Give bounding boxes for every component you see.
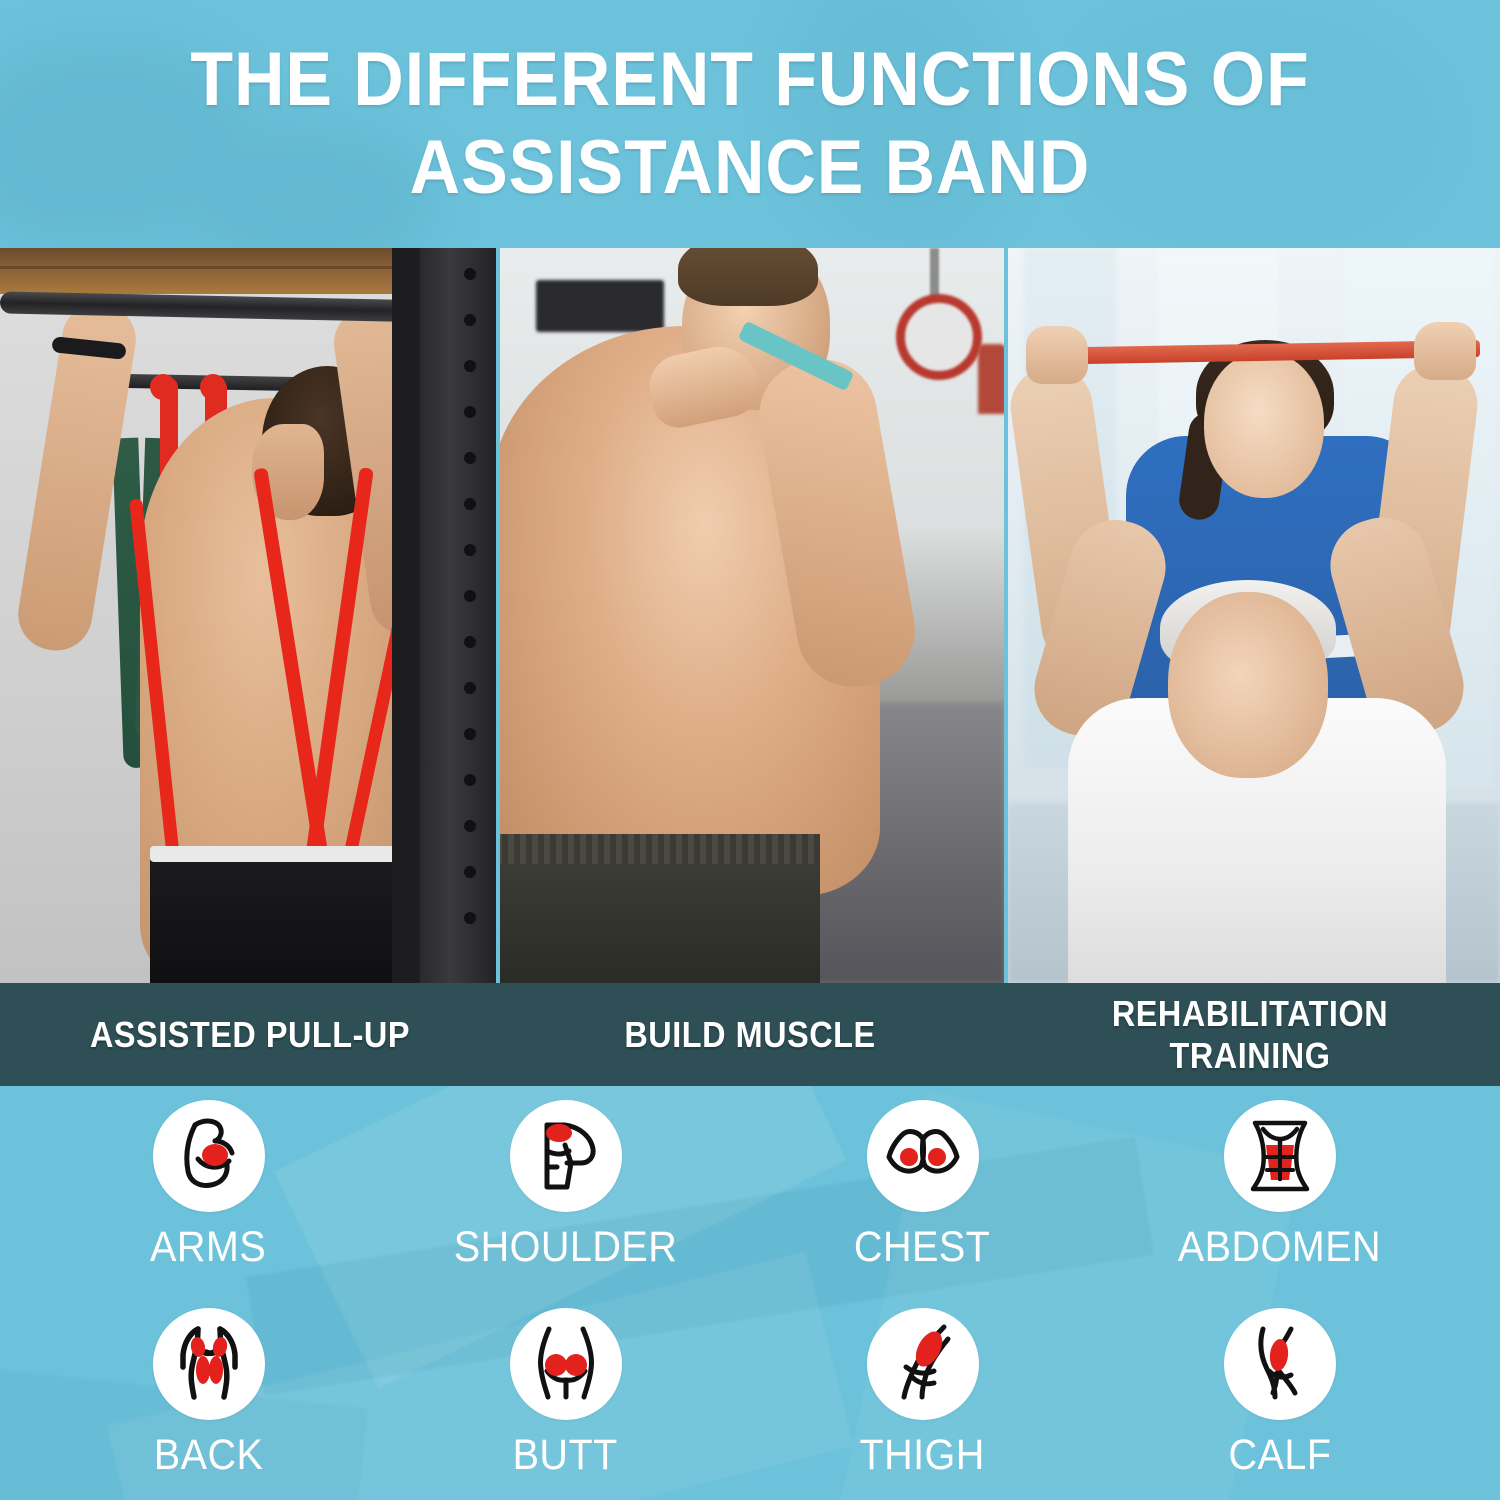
muscle-group-arms[interactable]: ARMS <box>30 1100 387 1307</box>
glutes-icon <box>510 1308 622 1420</box>
page-title: THE DIFFERENT FUNCTIONS OF ASSISTANCE BA… <box>60 36 1440 212</box>
muscle-group-calf[interactable]: CALF <box>1101 1308 1458 1500</box>
caption-rehabilitation-line-2: TRAINING <box>1170 1035 1331 1076</box>
muscle-group-abdomen[interactable]: ABDOMEN <box>1101 1100 1458 1307</box>
caption-build-muscle: BUILD MUSCLE <box>525 1014 975 1056</box>
six-pack-abs-icon <box>1224 1100 1336 1212</box>
muscle-group-label: ARMS <box>150 1222 266 1272</box>
muscle-group-butt[interactable]: BUTT <box>387 1308 744 1500</box>
rack-holes <box>464 268 476 968</box>
muscle-group-shoulder[interactable]: SHOULDER <box>387 1100 744 1307</box>
photo-rehabilitation-training <box>1008 248 1500 983</box>
caption-rehabilitation-training: REHABILITATION TRAINING <box>1025 993 1475 1077</box>
photo-assisted-pull-up <box>0 248 496 983</box>
header-banner: THE DIFFERENT FUNCTIONS OF ASSISTANCE BA… <box>0 0 1500 248</box>
muscle-group-label: CHEST <box>854 1222 990 1272</box>
caption-strip: ASSISTED PULL-UP BUILD MUSCLE REHABILITA… <box>0 983 1500 1086</box>
flexed-bicep-icon <box>153 1100 265 1212</box>
shoulder-deltoid-icon <box>510 1100 622 1212</box>
muscle-groups-section: ARMS SHOUL <box>0 1086 1500 1500</box>
infographic-poster: THE DIFFERENT FUNCTIONS OF ASSISTANCE BA… <box>0 0 1500 1500</box>
muscle-group-label: SHOULDER <box>454 1222 678 1272</box>
page-title-line-1: THE DIFFERENT FUNCTIONS OF <box>60 36 1440 124</box>
caption-rehabilitation-line-1: REHABILITATION <box>1112 993 1388 1034</box>
muscle-group-label: ABDOMEN <box>1178 1222 1381 1272</box>
calf-muscle-icon <box>1224 1308 1336 1420</box>
page-title-line-2: ASSISTANCE BAND <box>60 124 1440 212</box>
muscle-group-label: BUTT <box>513 1430 618 1480</box>
thigh-quadriceps-icon <box>867 1308 979 1420</box>
pectoral-chest-icon <box>867 1100 979 1212</box>
photo-build-muscle <box>500 248 1004 983</box>
muscle-group-row-2: BACK <box>0 1308 1500 1500</box>
caption-assisted-pull-up: ASSISTED PULL-UP <box>25 1014 475 1056</box>
photo-row <box>0 248 1500 983</box>
muscle-group-label: THIGH <box>860 1430 985 1480</box>
muscle-group-label: BACK <box>154 1430 264 1480</box>
muscle-group-back[interactable]: BACK <box>30 1308 387 1500</box>
muscle-group-chest[interactable]: CHEST <box>744 1100 1101 1307</box>
back-muscles-icon <box>153 1308 265 1420</box>
muscle-group-thigh[interactable]: THIGH <box>744 1308 1101 1500</box>
muscle-group-label: CALF <box>1228 1430 1331 1480</box>
muscle-group-row-1: ARMS SHOUL <box>0 1100 1500 1307</box>
